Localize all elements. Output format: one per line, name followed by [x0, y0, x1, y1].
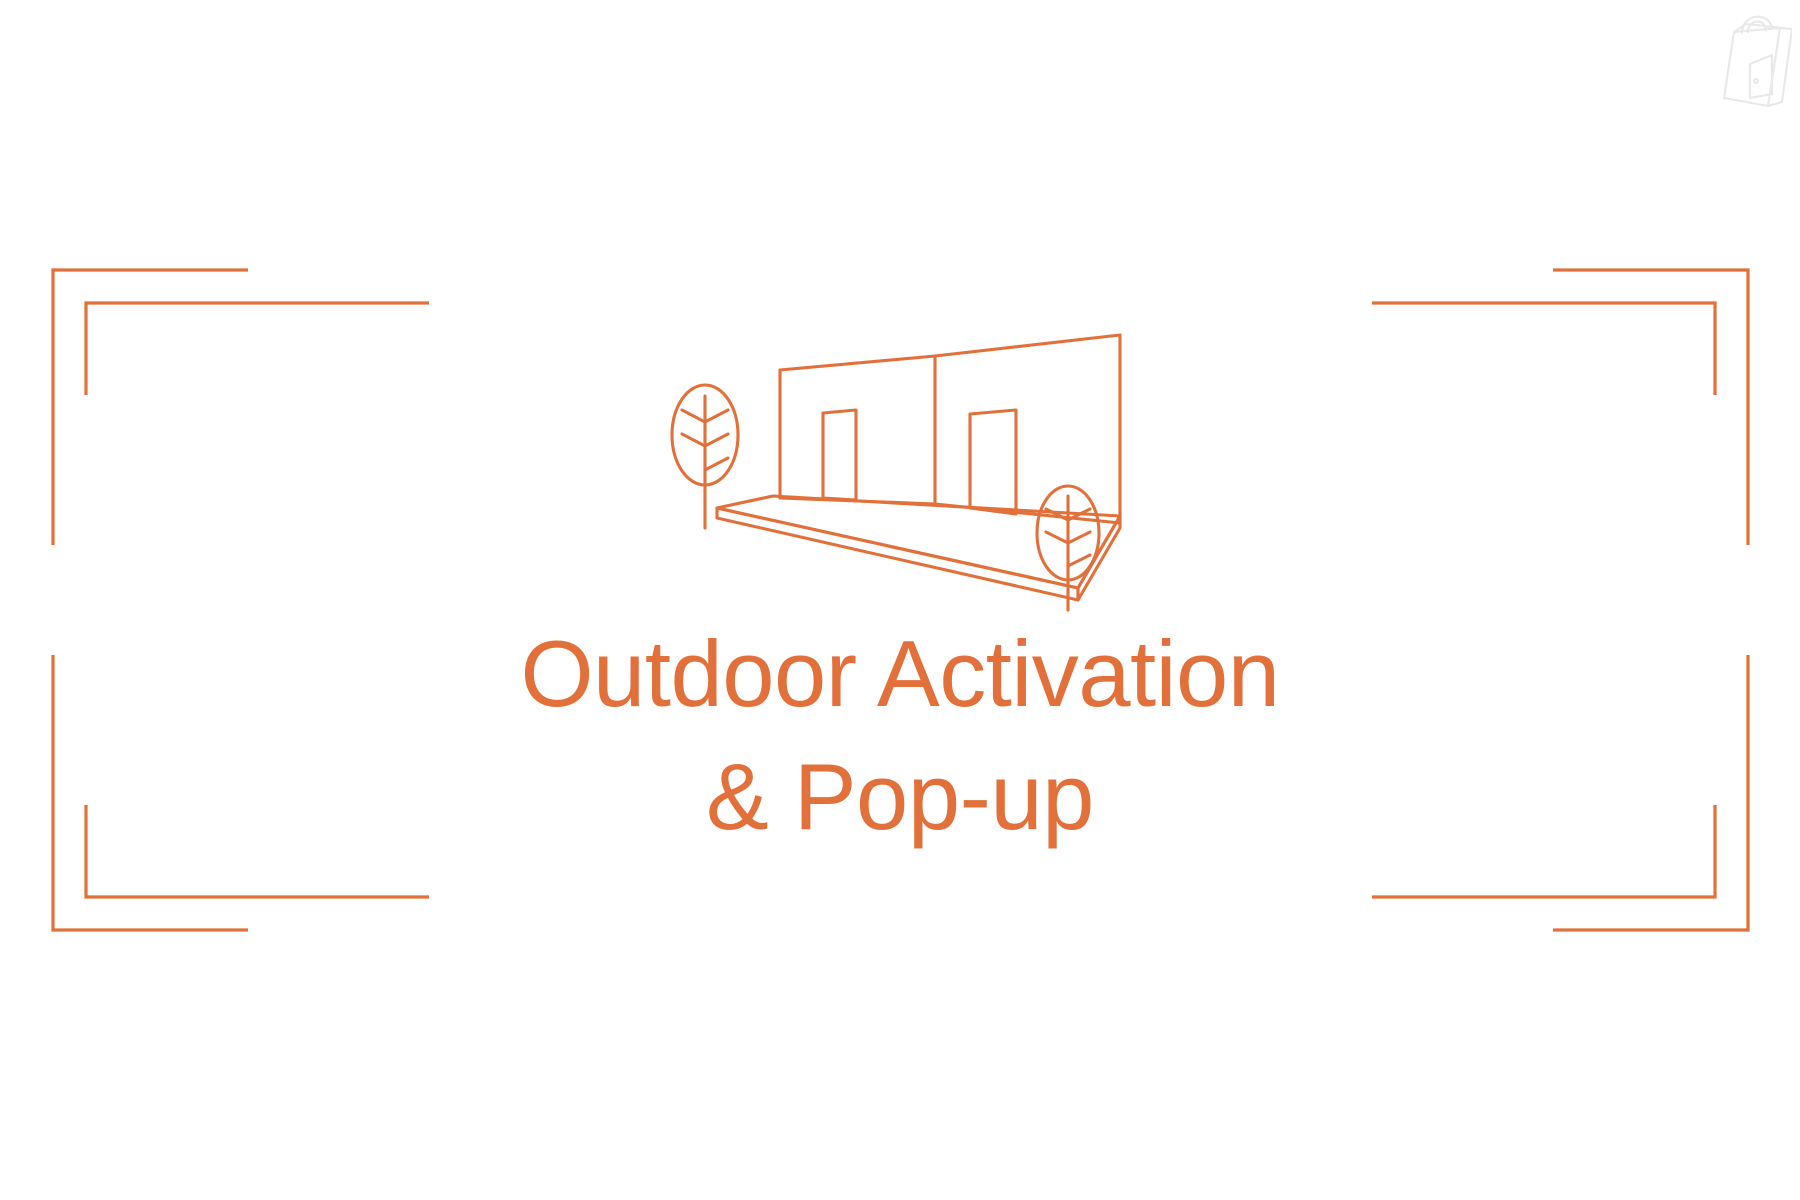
bracket-top-left-outer	[53, 270, 248, 545]
platform-top-face	[717, 496, 1120, 588]
tree-right-branch-2r	[1068, 532, 1090, 543]
title-line-2: & Pop-up	[0, 735, 1800, 858]
outdoor-popup-icon	[660, 318, 1160, 623]
wall-top-right-panel	[935, 335, 1120, 356]
doorway-left	[823, 410, 856, 500]
bracket-top-right-inner	[1372, 303, 1715, 395]
bracket-top-right-outer	[1553, 270, 1748, 545]
storefront-illustration	[660, 318, 1160, 623]
platform-front-face	[717, 508, 1078, 600]
tree-left-branch-3r	[705, 458, 728, 470]
shopping-bag-icon	[1712, 2, 1792, 110]
bracket-top-left-inner	[86, 303, 429, 395]
tree-right-branch-2l	[1046, 532, 1068, 543]
wall-top-left-panel	[780, 356, 935, 370]
tree-left-branch-2r	[705, 434, 728, 446]
slide-canvas: Outdoor Activation & Pop-up	[0, 0, 1800, 1200]
tree-right-branch-3r	[1068, 555, 1090, 566]
title-block: Outdoor Activation & Pop-up	[0, 612, 1800, 858]
title-line-1: Outdoor Activation	[0, 612, 1800, 735]
tree-left-branch-2l	[682, 434, 705, 446]
tree-left-branch-1l	[682, 410, 705, 422]
doorway-right	[970, 410, 1016, 514]
tree-left-branch-1r	[705, 410, 728, 422]
shopping-bag-logo	[1712, 2, 1792, 110]
